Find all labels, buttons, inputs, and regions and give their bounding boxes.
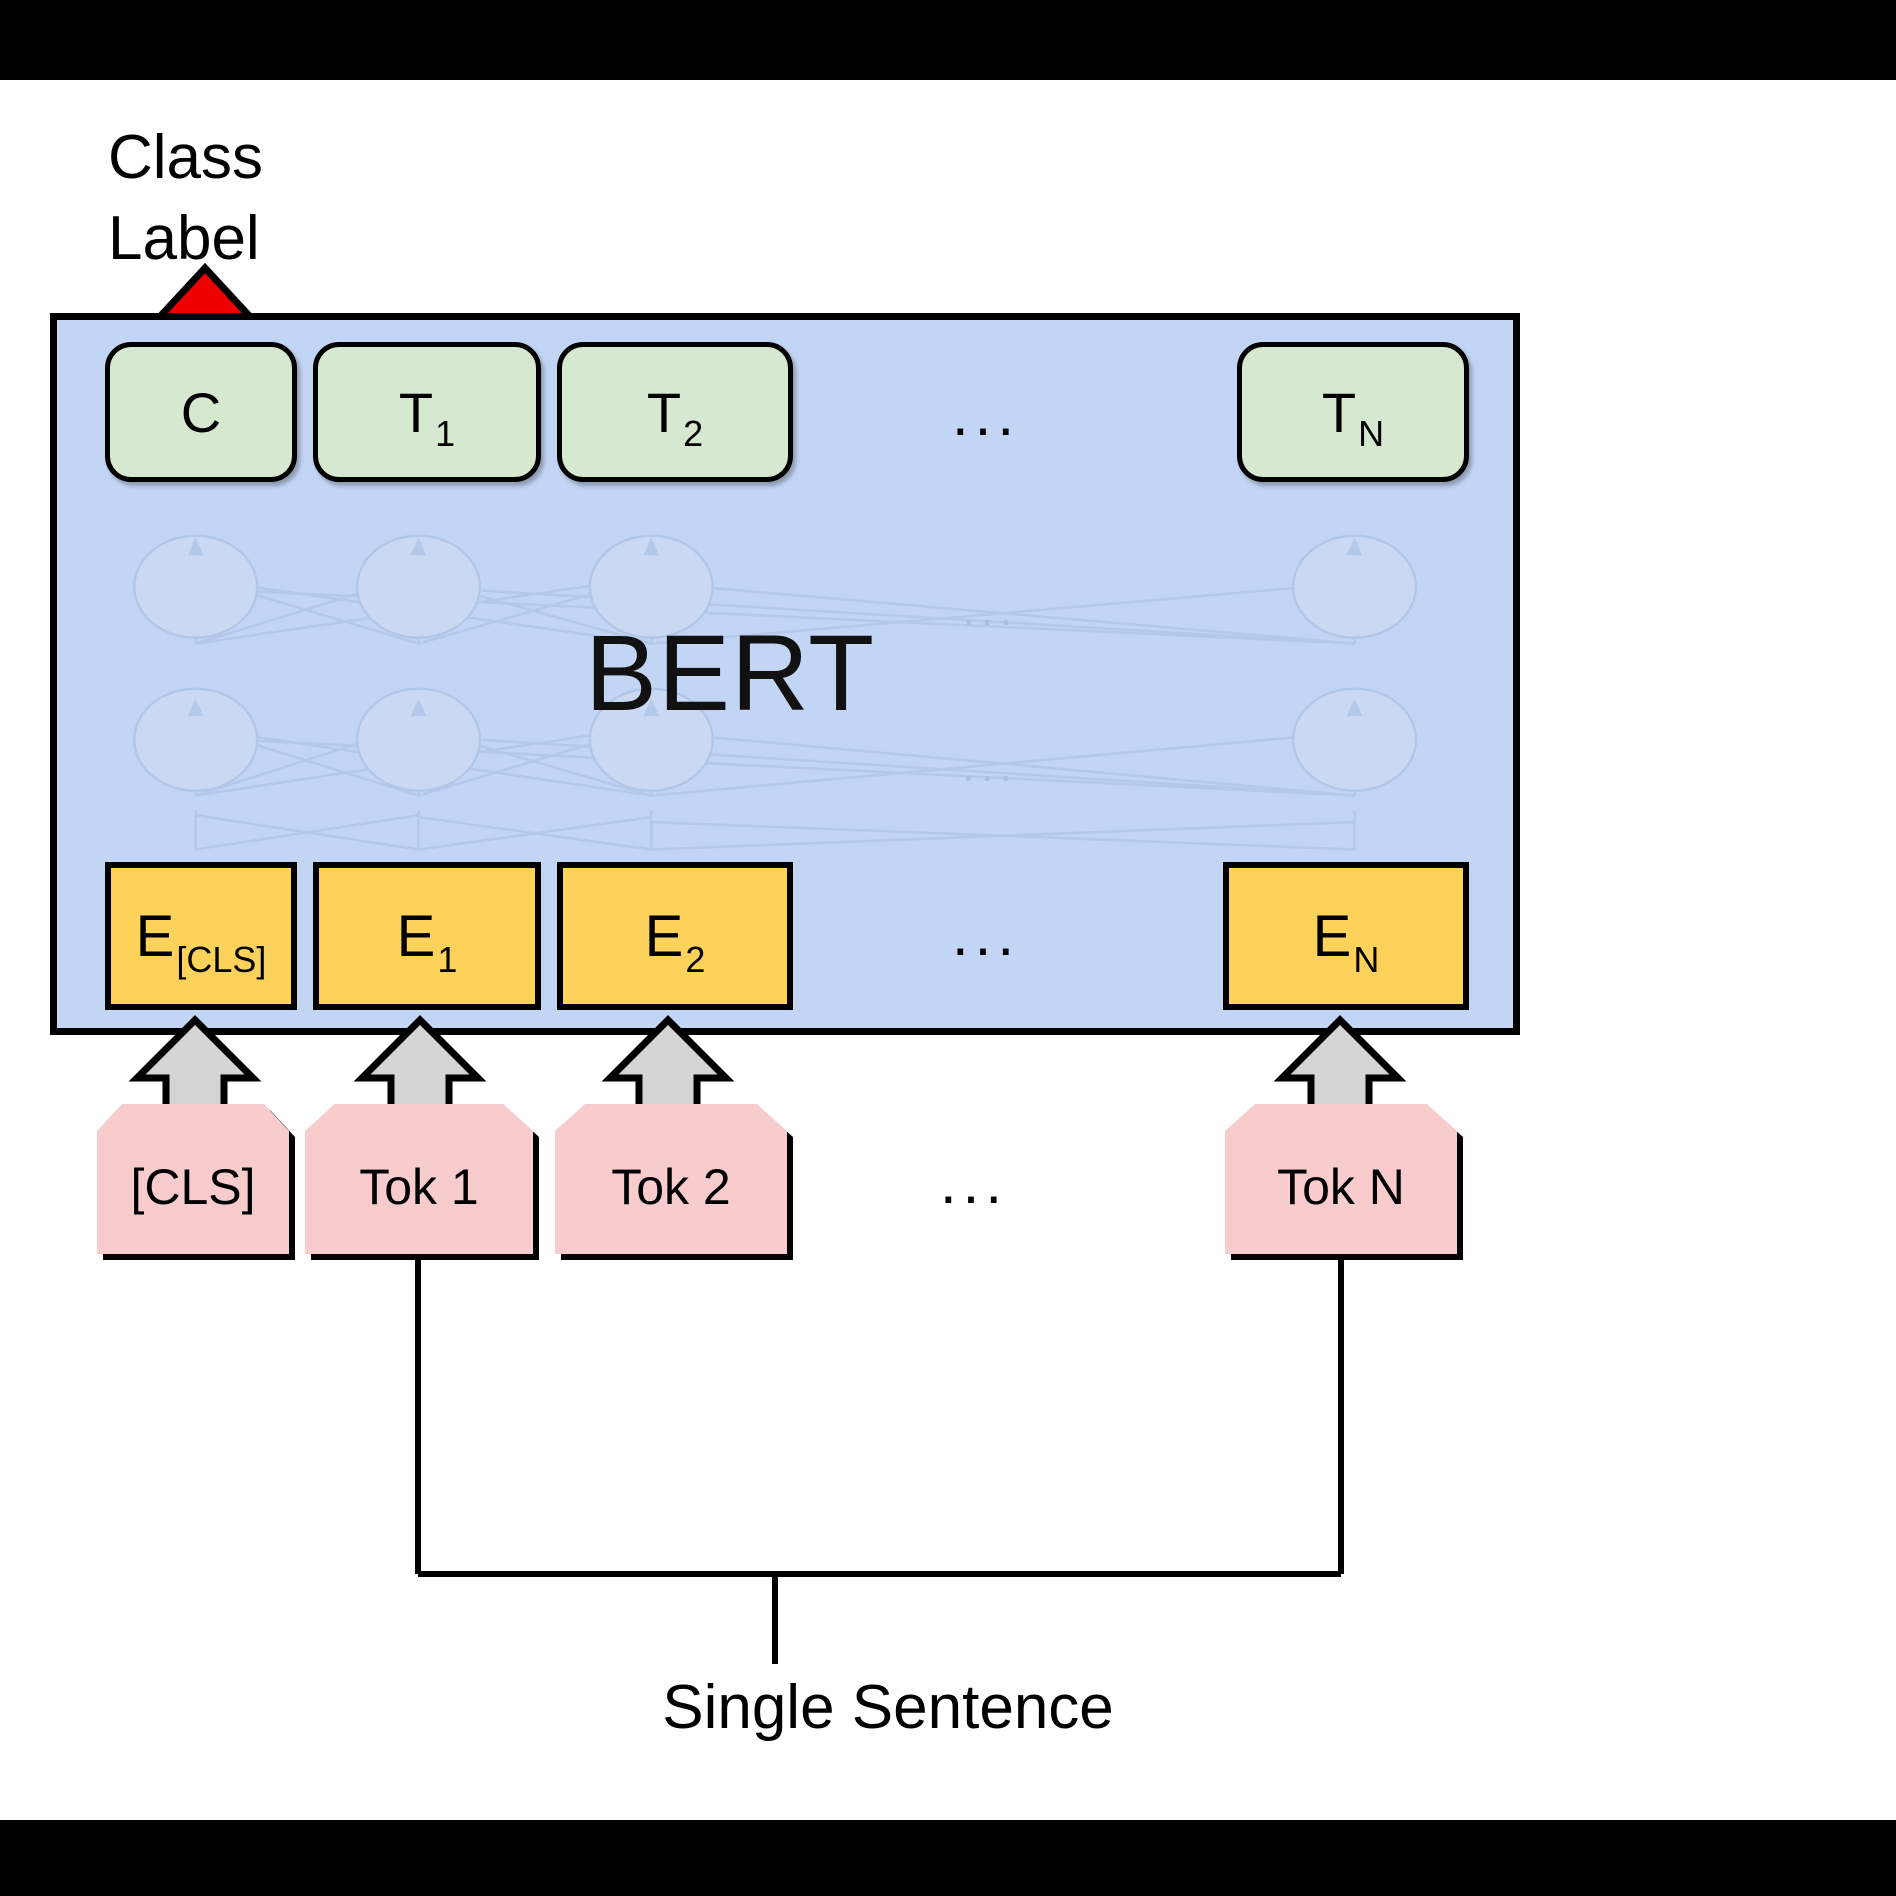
embedding-box-en[interactable]: EN <box>1223 862 1469 1010</box>
embedding-box-e2-label: E2 <box>645 903 706 970</box>
token-box-tokn-label: Tok N <box>1225 1104 1457 1254</box>
embedding-box-e2[interactable]: E2 <box>557 862 793 1010</box>
output-box-c[interactable]: C <box>105 342 297 482</box>
token-box-tok2-label: Tok 2 <box>555 1104 787 1254</box>
output-box-t1[interactable]: T1 <box>313 342 541 482</box>
embedding-box-en-label: EN <box>1313 903 1380 970</box>
output-box-c-label: C <box>181 380 221 445</box>
letterbox-top <box>0 0 1896 80</box>
token-box-tok1[interactable]: Tok 1 <box>305 1104 533 1254</box>
output-box-t2-label: T2 <box>647 380 703 445</box>
embedding-box-cls-label: E[CLS] <box>136 903 267 970</box>
token-box-cls-label: [CLS] <box>97 1104 289 1254</box>
output-box-t2[interactable]: T2 <box>557 342 793 482</box>
token-box-tok1-label: Tok 1 <box>305 1104 533 1254</box>
single-sentence-text: Single Sentence <box>662 1672 1114 1743</box>
embedding-box-e1-label: E1 <box>397 903 458 970</box>
embedding-box-cls[interactable]: E[CLS] <box>105 862 297 1010</box>
output-box-tn[interactable]: TN <box>1237 342 1469 482</box>
figure-canvas: Class Label <box>0 0 1896 1896</box>
embedding-layer-ellipsis: ... <box>952 900 1020 969</box>
internal-ellipsis-row2: ... <box>962 738 1018 792</box>
internal-ellipsis-row1: ... <box>962 582 1018 636</box>
token-box-tok2[interactable]: Tok 2 <box>555 1104 787 1254</box>
input-layer-ellipsis: ... <box>940 1148 1008 1217</box>
class-label-text: Class Label <box>108 118 263 279</box>
single-sentence-caption: Single Sentence <box>0 1672 1896 1743</box>
token-box-tokn[interactable]: Tok N <box>1225 1104 1457 1254</box>
bert-encoder-panel: ... ... BERT C T1 T2 TN ... E[CLS] E1 E2 <box>50 313 1520 1035</box>
output-box-tn-label: TN <box>1322 380 1384 445</box>
letterbox-bottom <box>0 1820 1896 1896</box>
embedding-box-e1[interactable]: E1 <box>313 862 541 1010</box>
token-box-cls[interactable]: [CLS] <box>97 1104 289 1254</box>
output-layer-ellipsis: ... <box>952 380 1020 449</box>
output-box-t1-label: T1 <box>399 380 455 445</box>
